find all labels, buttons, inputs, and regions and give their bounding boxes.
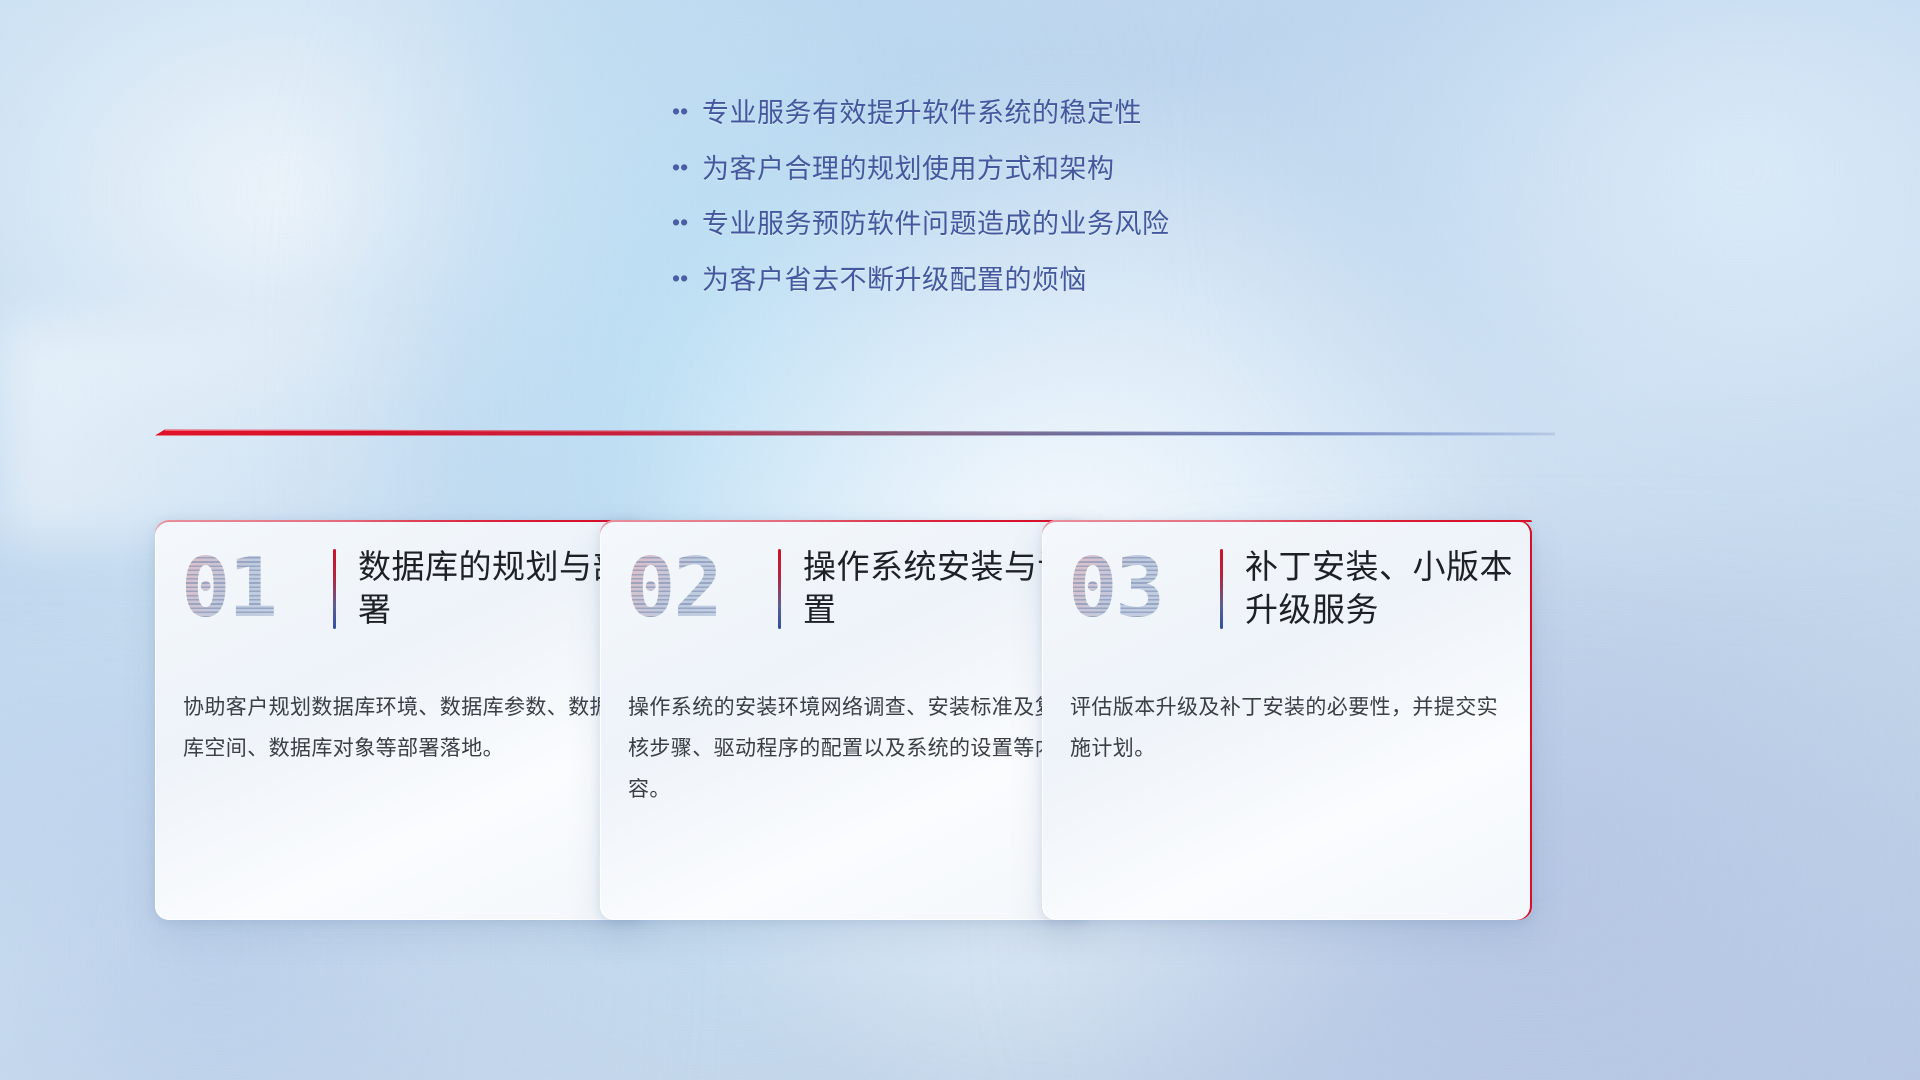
service-card-02[interactable]: 02 操作系统安装与设置 操作系统的安装环境网络调查、安装标准及复核步骤、驱动程… xyxy=(600,520,1090,920)
card-title-rule xyxy=(778,549,781,629)
service-card-03[interactable]: 03 补丁安装、小版本升级服务 评估版本升级及补丁安装的必要性，并提交实施计划。 xyxy=(1042,520,1532,920)
card-number-watermark: 02 xyxy=(626,548,774,630)
card-body-text: 评估版本升级及补丁安装的必要性，并提交实施计划。 xyxy=(1070,688,1506,770)
card-header: 01 数据库的规划与部署 xyxy=(155,546,645,632)
card-accent-edge-top xyxy=(351,520,645,522)
card-title-rule xyxy=(333,549,336,629)
card-title: 补丁安装、小版本升级服务 xyxy=(1245,546,1514,632)
service-card-01[interactable]: 01 数据库的规划与部署 协助客户规划数据库环境、数据库参数、数据库空间、数据库… xyxy=(155,520,645,920)
card-header: 02 操作系统安装与设置 xyxy=(600,546,1090,632)
card-body-text: 操作系统的安装环境网络调查、安装标准及复核步骤、驱动程序的配置以及系统的设置等内… xyxy=(628,688,1064,811)
card-body-text: 协助客户规划数据库环境、数据库参数、数据库空间、数据库对象等部署落地。 xyxy=(183,688,619,770)
card-number-watermark: 01 xyxy=(181,548,329,630)
card-title: 数据库的规划与部署 xyxy=(358,546,627,632)
card-title-rule xyxy=(1220,549,1223,629)
card-header: 03 补丁安装、小版本升级服务 xyxy=(1042,546,1532,632)
card-title: 操作系统安装与设置 xyxy=(803,546,1072,632)
service-card-row: 01 数据库的规划与部署 协助客户规划数据库环境、数据库参数、数据库空间、数据库… xyxy=(0,0,1920,1080)
card-accent-edge-top xyxy=(796,520,1090,522)
card-number-watermark: 03 xyxy=(1068,548,1216,630)
card-accent-edge-top xyxy=(1238,520,1532,522)
